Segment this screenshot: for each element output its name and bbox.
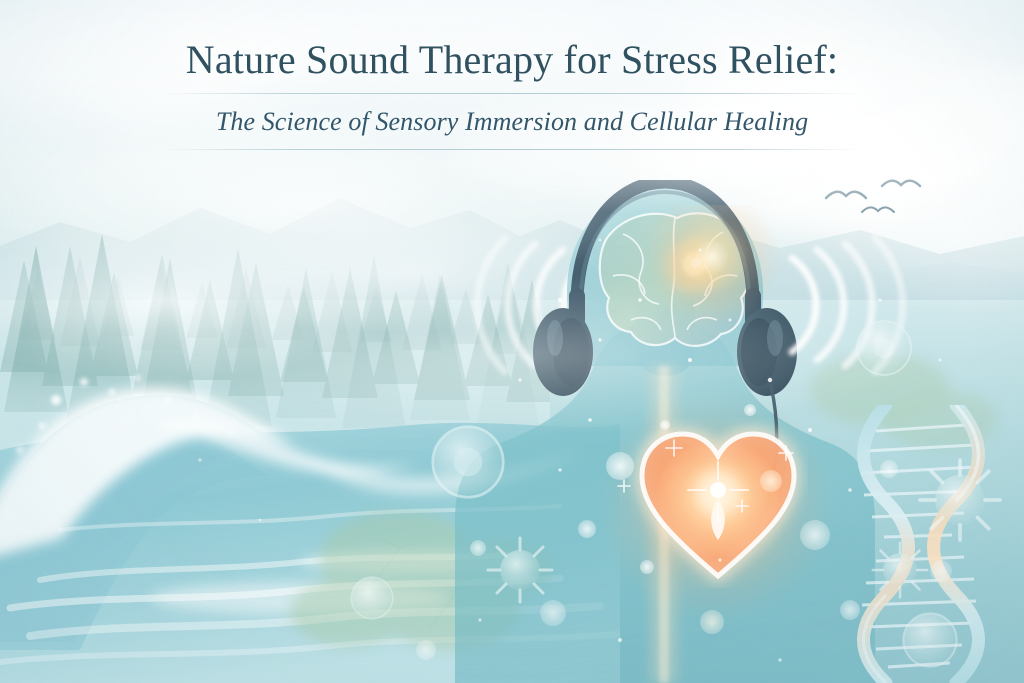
title-block: Nature Sound Therapy for Stress Relief: … <box>0 36 1024 150</box>
hero-illustration: Nature Sound Therapy for Stress Relief: … <box>0 0 1024 683</box>
page-title: Nature Sound Therapy for Stress Relief: <box>0 36 1024 83</box>
page-subtitle: The Science of Sensory Immersion and Cel… <box>0 107 1024 137</box>
divider-bottom <box>162 149 862 150</box>
divider-top <box>162 93 862 94</box>
